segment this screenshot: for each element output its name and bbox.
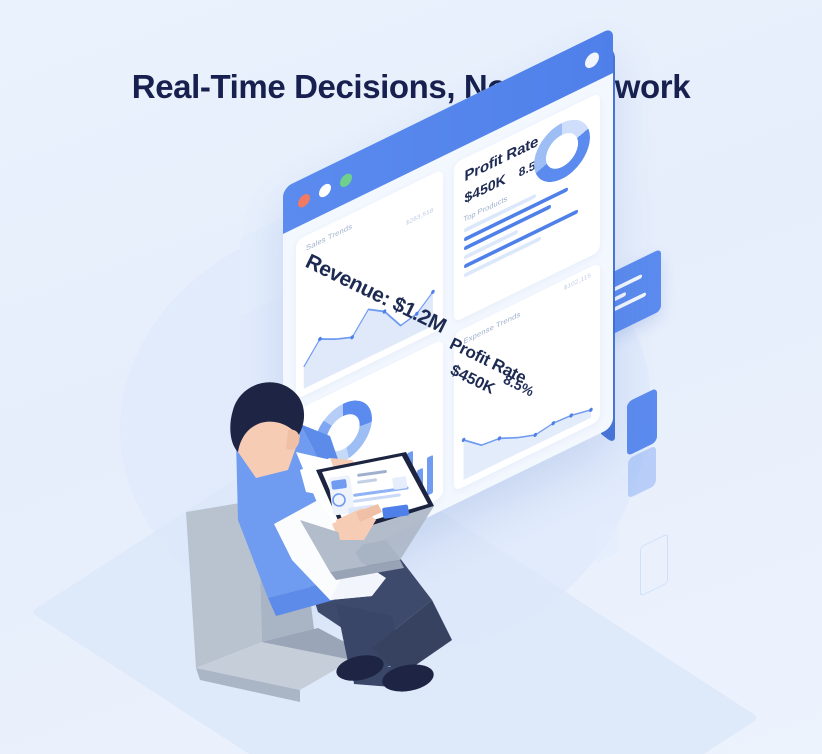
illustration-stage: Real-Time Decisions, No Guesswork Sales xyxy=(0,0,822,754)
bar-4 xyxy=(397,462,403,511)
bar-5 xyxy=(407,451,413,506)
minimize-dot-icon[interactable] xyxy=(319,182,331,200)
bar-3 xyxy=(387,489,393,516)
expense-trends-value: $102,115 xyxy=(564,272,591,291)
close-dot-icon[interactable] xyxy=(298,192,310,210)
sales-trends-value: $283,518 xyxy=(406,208,433,227)
category-distribution-donut-chart xyxy=(314,389,372,475)
bar-7 xyxy=(427,455,433,496)
sales-trends-label: Sales Trends xyxy=(306,221,352,253)
page-title: Real-Time Decisions, No Guesswork xyxy=(0,68,822,106)
monthly-volume-bar-chart xyxy=(367,441,433,525)
maximize-dot-icon[interactable] xyxy=(340,171,352,189)
bar-6 xyxy=(417,468,423,501)
deco-square-7 xyxy=(640,533,668,597)
bar-1 xyxy=(367,506,373,525)
expense-trends-label: Expense Trends xyxy=(464,309,521,346)
window-menu-icon[interactable] xyxy=(585,50,599,71)
bar-2 xyxy=(377,483,383,520)
